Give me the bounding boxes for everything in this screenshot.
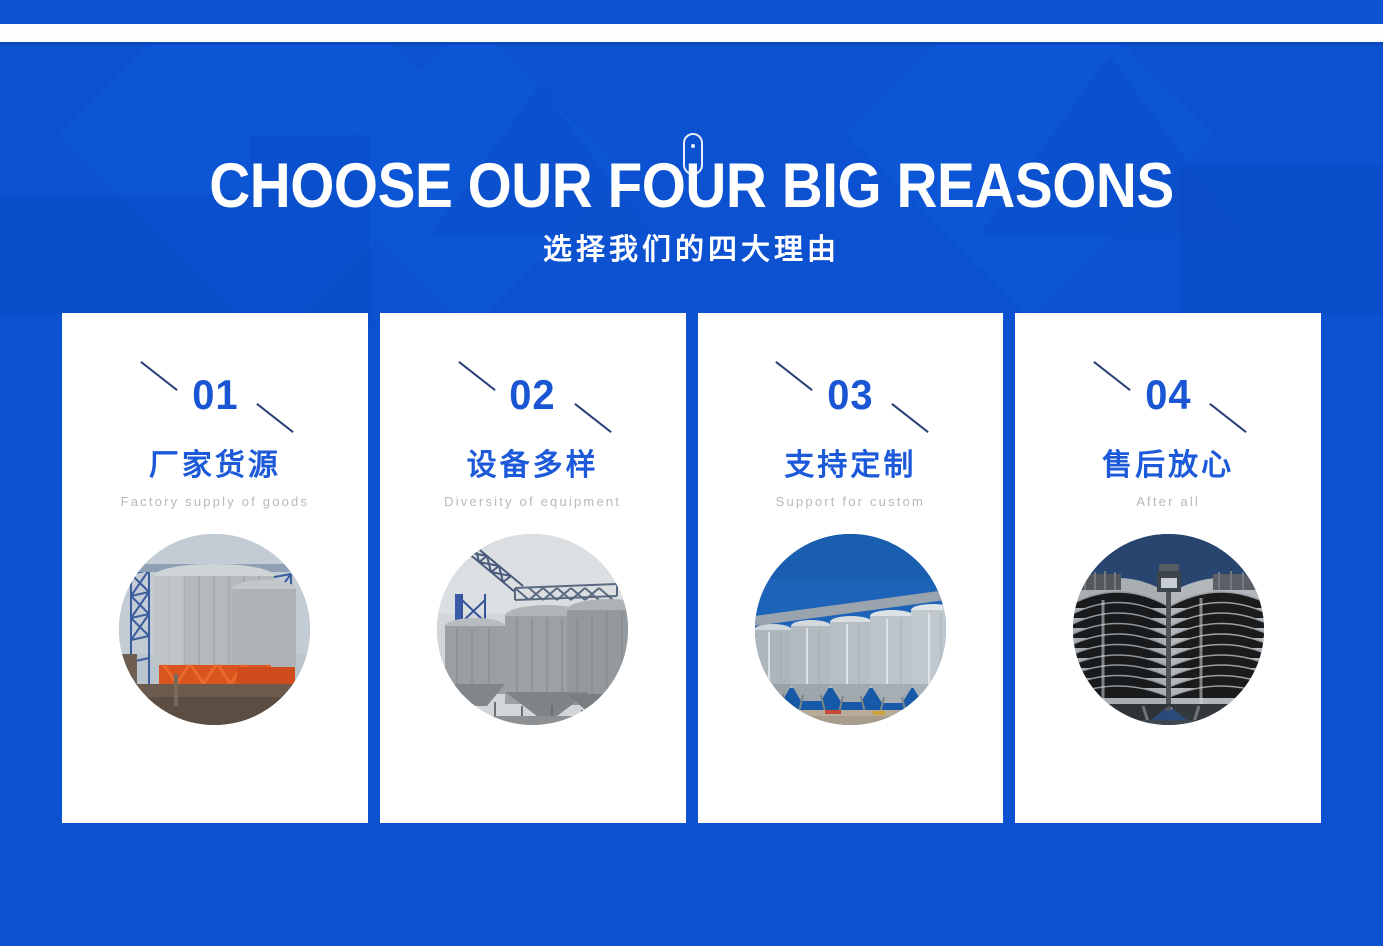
card-number-block: 02 bbox=[448, 367, 618, 423]
steel-silo-orange-base-photo bbox=[119, 534, 310, 725]
top-accent-bar-white bbox=[0, 24, 1383, 42]
card-title-english: Diversity of equipment bbox=[444, 493, 621, 512]
silo-row-blue-sky-photo bbox=[755, 534, 946, 725]
card-number-block: 03 bbox=[765, 367, 935, 423]
reason-card-list: 01 厂家货源 Factory supply of goods bbox=[62, 313, 1321, 823]
twin-corrugated-silos-photo bbox=[1073, 534, 1264, 725]
card-title-chinese: 支持定制 bbox=[784, 449, 916, 482]
slash-decor-top-left-icon bbox=[776, 361, 813, 391]
hero-section: CHOOSE OUR FOUR BIG REASONS 选择我们的四大理由 01… bbox=[0, 45, 1383, 946]
card-title-chinese: 设备多样 bbox=[467, 449, 599, 482]
slash-decor-top-left-icon bbox=[1093, 361, 1130, 391]
reason-card-04[interactable]: 04 售后放心 After all bbox=[1015, 313, 1321, 823]
slash-decor-bottom-right-icon bbox=[892, 403, 929, 433]
reason-card-03[interactable]: 03 支持定制 Support for custom bbox=[698, 313, 1004, 823]
card-title-chinese: 售后放心 bbox=[1102, 449, 1234, 482]
mouse-scroll-wheel-dot bbox=[691, 144, 695, 148]
slash-decor-top-left-icon bbox=[458, 361, 495, 391]
section-heading: CHOOSE OUR FOUR BIG REASONS 选择我们的四大理由 bbox=[0, 155, 1383, 265]
slash-decor-bottom-right-icon bbox=[256, 403, 293, 433]
grey-silos-conveyor-gantry-photo bbox=[437, 534, 628, 725]
card-title-english: Factory supply of goods bbox=[121, 493, 310, 512]
page-title-chinese: 选择我们的四大理由 bbox=[0, 236, 1383, 265]
slash-decor-bottom-right-icon bbox=[574, 403, 611, 433]
card-title-chinese: 厂家货源 bbox=[149, 449, 281, 482]
card-number-block: 01 bbox=[130, 367, 300, 423]
slash-decor-bottom-right-icon bbox=[1209, 403, 1246, 433]
slash-decor-top-left-icon bbox=[140, 361, 177, 391]
card-number-block: 04 bbox=[1083, 367, 1253, 423]
top-accent-bar-blue bbox=[0, 0, 1383, 24]
card-title-english: After all bbox=[1136, 493, 1200, 512]
page-title-english: CHOOSE OUR FOUR BIG REASONS bbox=[69, 155, 1314, 218]
card-number: 04 bbox=[1145, 374, 1191, 416]
card-number: 01 bbox=[192, 374, 238, 416]
reason-card-01[interactable]: 01 厂家货源 Factory supply of goods bbox=[62, 313, 368, 823]
reason-card-02[interactable]: 02 设备多样 Diversity of equipment bbox=[380, 313, 686, 823]
card-number: 02 bbox=[509, 374, 555, 416]
card-title-english: Support for custom bbox=[776, 493, 925, 512]
card-number: 03 bbox=[827, 374, 873, 416]
